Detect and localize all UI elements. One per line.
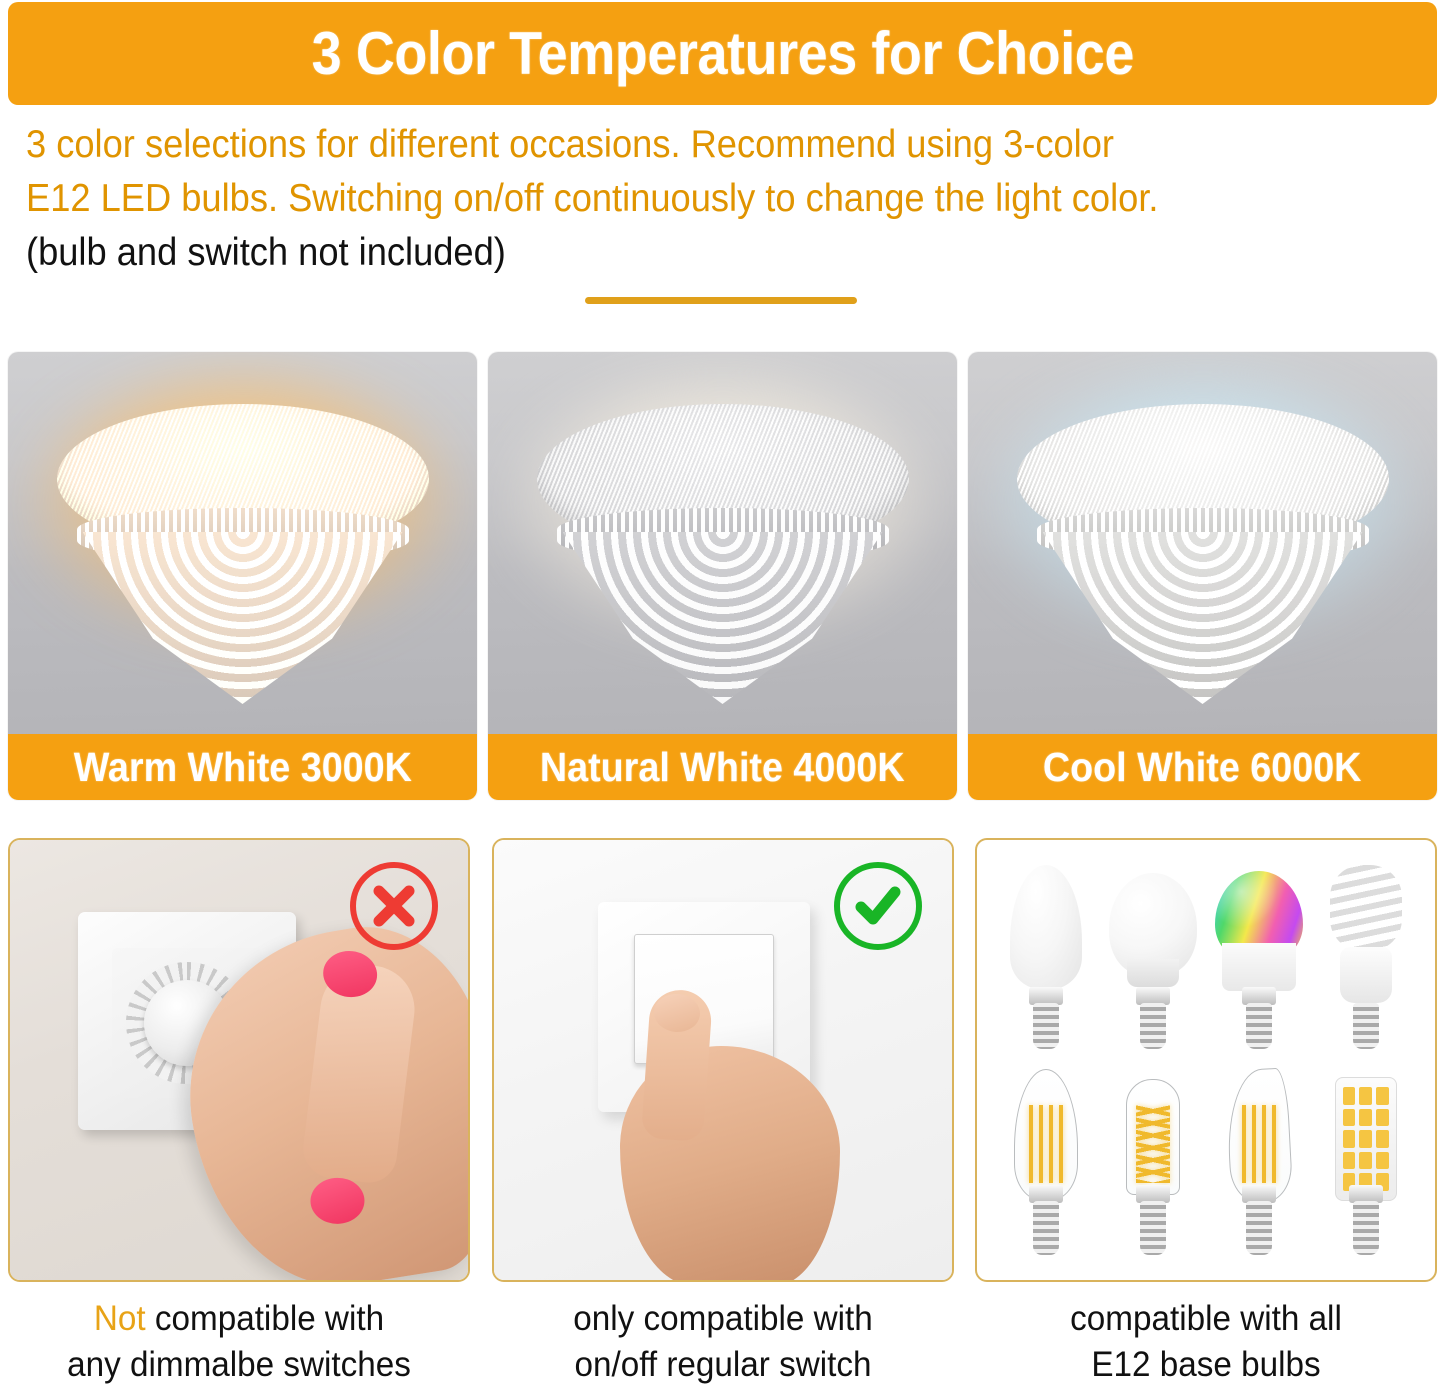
chandelier-photo-warm xyxy=(8,352,477,734)
page-title: 3 Color Temperatures for Choice xyxy=(311,19,1133,88)
intro-line-1: 3 color selections for different occasio… xyxy=(26,118,1328,172)
intro-note: (bulb and switch not included) xyxy=(26,226,1328,280)
corn-led-body xyxy=(1335,1077,1397,1201)
temperature-label-bar: Natural White 4000K xyxy=(488,734,957,800)
e12-screw-base xyxy=(1033,1201,1059,1255)
compat-card-dimmer-switch xyxy=(8,838,470,1282)
bulb-type-grid xyxy=(993,854,1419,1266)
infographic-page: 3 Color Temperatures for Choice 3 color … xyxy=(0,0,1445,1390)
e12-screw-base xyxy=(1353,1003,1379,1049)
smd-chip xyxy=(1359,1152,1372,1170)
compat-card-bulb-types xyxy=(975,838,1437,1282)
smd-chip xyxy=(1359,1087,1372,1105)
e12-screw-base xyxy=(1246,1003,1272,1049)
smd-chip xyxy=(1376,1109,1389,1127)
caption-text: only compatible with xyxy=(573,1299,872,1338)
smd-chip xyxy=(1343,1130,1356,1148)
caption-text: compatible with xyxy=(146,1299,384,1338)
caption-text-line2: any dimmalbe switches xyxy=(67,1345,411,1384)
bulb-neck xyxy=(1127,959,1179,987)
temperature-card-natural-white: Natural White 4000K xyxy=(488,352,957,800)
crystal-chandelier xyxy=(1017,404,1389,704)
compat-card-regular-switch xyxy=(492,838,954,1282)
bulb-glass xyxy=(1010,865,1082,989)
intro-line-2: E12 LED bulbs. Switching on/off continuo… xyxy=(26,172,1328,226)
clear-filament-flame-tip-bulb xyxy=(1209,1065,1309,1261)
temperature-label: Warm White 3000K xyxy=(73,744,411,791)
fingernail xyxy=(310,1177,365,1224)
caption-text-line2: E12 base bulbs xyxy=(1091,1345,1320,1384)
smd-chip xyxy=(1359,1130,1372,1148)
temperature-card-warm-white: Warm White 3000K xyxy=(8,352,477,800)
chandelier-photo-natural xyxy=(488,352,957,734)
bulb-skirt xyxy=(1222,943,1296,991)
caption-text: compatible with all xyxy=(1070,1299,1342,1338)
e12-screw-base xyxy=(1353,1201,1379,1255)
frosted-globe-bulb xyxy=(1103,859,1203,1055)
header-banner: 3 Color Temperatures for Choice xyxy=(8,2,1437,105)
cfl-spiral-tube xyxy=(1330,865,1402,951)
smd-chip xyxy=(1359,1109,1372,1127)
temperature-label: Natural White 4000K xyxy=(540,744,905,791)
caption-text-line2: on/off regular switch xyxy=(574,1345,871,1384)
e12-screw-base xyxy=(1140,1003,1166,1049)
temperature-card-cool-white: Cool White 6000K xyxy=(968,352,1437,800)
led-filament xyxy=(1029,1105,1063,1183)
smd-chip xyxy=(1343,1109,1356,1127)
chandelier-crystal-bowl xyxy=(563,532,883,704)
caption-bulb-types: compatible with all E12 base bulbs xyxy=(987,1296,1426,1388)
led-filament xyxy=(1136,1105,1170,1183)
clear-filament-tube-bulb xyxy=(1103,1065,1203,1261)
smd-chip xyxy=(1343,1087,1356,1105)
cfl-spiral-bulb xyxy=(1316,859,1416,1055)
intro-text-block: 3 color selections for different occasio… xyxy=(26,118,1426,280)
temperature-label-bar: Warm White 3000K xyxy=(8,734,477,800)
chandelier-crystal-bowl xyxy=(83,532,403,704)
corn-led-bulb xyxy=(1316,1065,1416,1261)
e12-screw-base xyxy=(1140,1201,1166,1255)
compatibility-row xyxy=(8,838,1437,1282)
e12-screw-base xyxy=(1246,1201,1272,1255)
caption-highlight: Not xyxy=(94,1299,146,1338)
cfl-ballast-body xyxy=(1340,947,1392,1003)
temperature-label: Cool White 6000K xyxy=(1043,744,1362,791)
crystal-chandelier xyxy=(57,404,429,704)
rgb-color-changing-bulb xyxy=(1209,859,1309,1055)
smd-chip xyxy=(1376,1152,1389,1170)
smd-chip xyxy=(1343,1152,1356,1170)
caption-row: Not compatible with any dimmalbe switche… xyxy=(8,1296,1437,1388)
smd-chip xyxy=(1376,1130,1389,1148)
section-divider xyxy=(585,297,857,304)
chandelier-photo-cool xyxy=(968,352,1437,734)
frosted-candle-bulb xyxy=(996,859,1096,1055)
e12-screw-base xyxy=(1033,1003,1059,1049)
crystal-chandelier xyxy=(537,404,909,704)
clear-filament-candle-bulb xyxy=(996,1065,1096,1261)
cross-icon xyxy=(350,862,438,950)
temperature-label-bar: Cool White 6000K xyxy=(968,734,1437,800)
caption-regular-switch: only compatible with on/off regular swit… xyxy=(503,1296,942,1388)
color-temperature-row: Warm White 3000K Natural White 4000K xyxy=(8,352,1437,800)
led-filament xyxy=(1242,1105,1276,1183)
chandelier-crystal-bowl xyxy=(1043,532,1363,704)
smd-chip xyxy=(1376,1087,1389,1105)
caption-dimmer: Not compatible with any dimmalbe switche… xyxy=(20,1296,459,1388)
check-icon xyxy=(834,862,922,950)
